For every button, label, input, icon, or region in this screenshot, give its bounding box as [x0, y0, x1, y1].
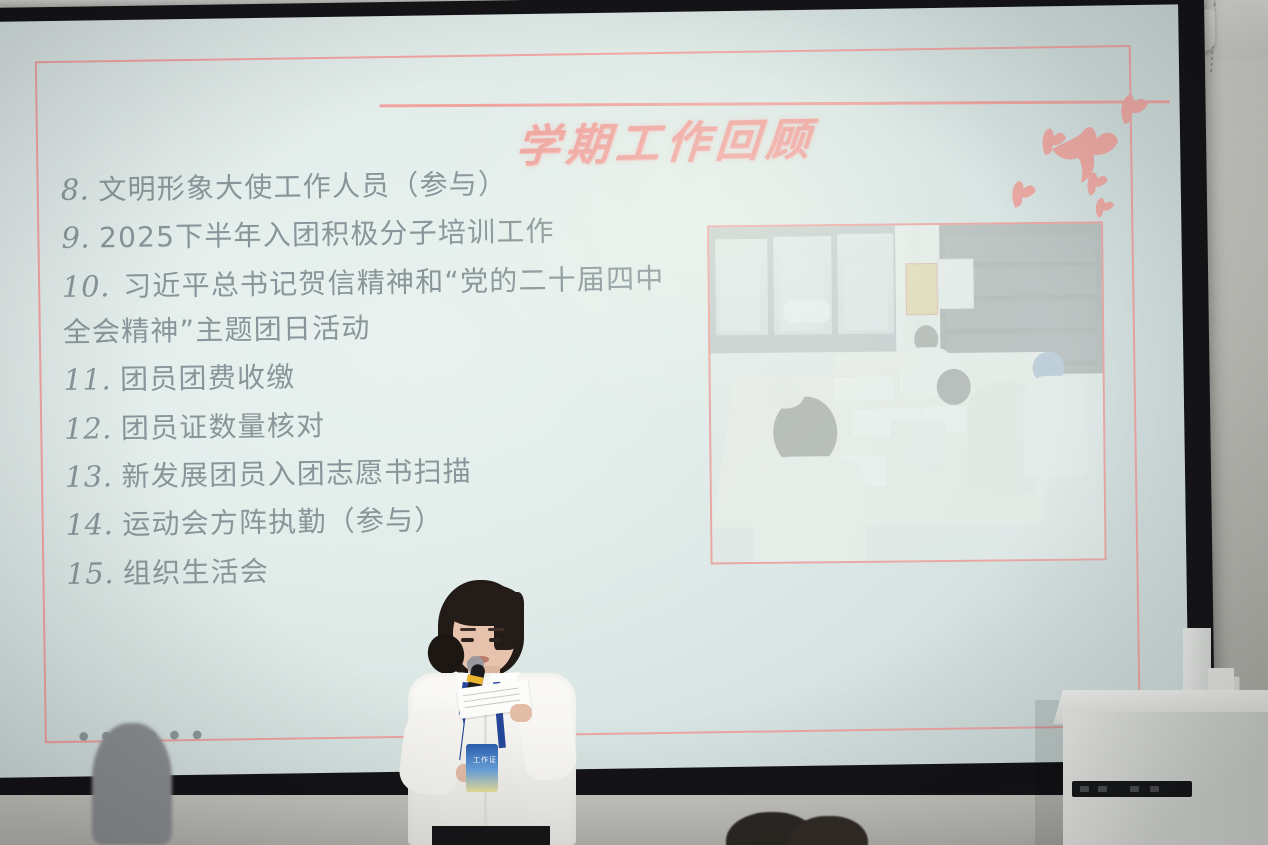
list-item-text: 组织生活会 [123, 555, 270, 591]
list-item: 10. 习近平总书记贺信精神和“党的二十届四中 全会精神”主题团日活动 [62, 259, 763, 350]
presenter-badge-text: 工作证 [473, 756, 497, 765]
podium-riser [1183, 628, 1211, 696]
presenter-trousers [432, 826, 550, 845]
list-item: 11. 团员团费收缴 [63, 353, 763, 399]
slide-inset-photo [707, 221, 1107, 564]
presenter-hand-right [510, 704, 532, 722]
presenter-figure: 工作证 [398, 578, 588, 845]
list-item: 13. 新发展团员入团志愿书扫描 [65, 450, 765, 496]
list-item-text: 新发展团员入团志愿书扫描 [121, 455, 472, 494]
list-item-text: 2025下半年入团积极分子培训工作 [99, 215, 555, 256]
slide-content-list: 8. 文明形象大使工作人员（参与） 9. 2025下半年入团积极分子培训工作 1… [60, 163, 766, 605]
list-item-text: 文明形象大使工作人员（参与） [98, 167, 507, 207]
screenshot-root: 学期工作回顾 [0, 0, 1268, 845]
list-item: 12. 团员证数量核对 [64, 401, 764, 447]
presenter-id-badge: 工作证 [466, 744, 498, 792]
list-item-number: 13. [65, 459, 113, 495]
presenter-eye-left [461, 638, 474, 642]
list-item-text: 团员团费收缴 [120, 361, 296, 398]
list-item-number: 11. [63, 362, 111, 398]
list-item-number: 14. [65, 508, 113, 544]
list-item-number: 8. [60, 172, 89, 208]
projection-screen-frame: 学期工作回顾 [0, 0, 1216, 826]
projected-slide: 学期工作回顾 [0, 4, 1190, 794]
list-item-text-continued: 全会精神”主题团日活动 [63, 306, 763, 351]
list-item: 14. 运动会方阵执勤（参与） [65, 498, 765, 544]
presenter-brow-left [460, 628, 476, 631]
list-item-text: 团员证数量核对 [121, 409, 326, 446]
podium-body [1063, 712, 1268, 845]
list-item-number: 15. [66, 556, 114, 592]
audience-member-left [92, 723, 172, 845]
list-item-number: 12. [64, 411, 112, 447]
list-item-text: 运动会方阵执勤（参与） [122, 504, 444, 543]
list-item: 9. 2025下半年入团积极分子培训工作 [61, 211, 761, 257]
presenter-eye-right [489, 638, 502, 642]
podium-control-panel[interactable] [1072, 781, 1192, 797]
list-item-number: 10. [62, 269, 110, 304]
presenter-brow-right [488, 628, 504, 631]
list-item-text: 习近平总书记贺信精神和“党的二十届四中 [123, 262, 665, 303]
list-item-number: 9. [61, 221, 90, 257]
